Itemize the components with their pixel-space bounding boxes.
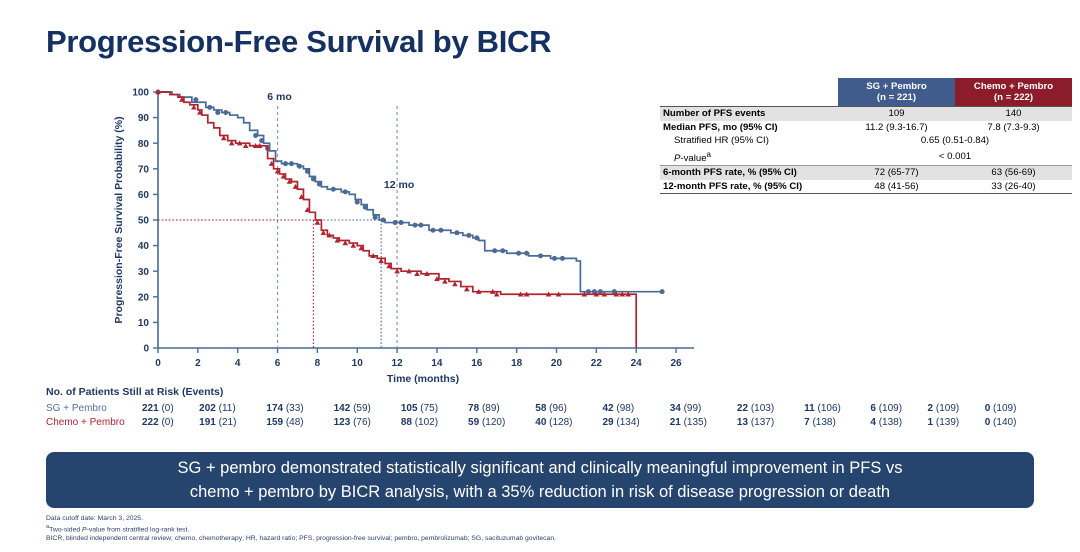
censor-mark (259, 138, 264, 143)
y-tick-label: 100 (132, 88, 149, 99)
x-tick-label: 18 (511, 358, 523, 369)
risk-cell: 59 (120) (468, 415, 535, 429)
stats-header-blank (660, 78, 838, 107)
censor-mark (399, 220, 404, 225)
stats-row-label: Median PFS, mo (95% CI) (660, 121, 838, 135)
risk-cell: 105 (75) (401, 401, 468, 415)
risk-table-wrapper: No. of Patients Still at Risk (Events) S… (46, 386, 1046, 429)
y-tick-label: 50 (138, 216, 150, 227)
censor-mark (283, 161, 288, 166)
censor-mark (355, 200, 360, 205)
conclusion-banner: SG + pembro demonstrated statistically s… (46, 452, 1034, 508)
x-tick-label: 14 (431, 358, 443, 369)
risk-cell: 221 (0) (142, 401, 199, 415)
censor-mark (393, 220, 398, 225)
risk-cell: 0 (109) (985, 401, 1042, 415)
stats-row-value-span: 0.65 (0.51-0.84) (838, 134, 1072, 148)
risk-cell: 29 (134) (602, 415, 669, 429)
stats-header-row: SG + Pembro(n = 221)Chemo + Pembro(n = 2… (660, 78, 1072, 107)
risk-row-label: Chemo + Pembro (46, 415, 142, 429)
x-axis-title: Time (months) (387, 373, 459, 385)
stats-row-label: P-valuea (660, 148, 838, 166)
footnotes: Data cutoff date: March 3, 2025. aTwo-si… (46, 514, 1046, 543)
y-tick-label: 30 (138, 267, 150, 278)
censor-mark (430, 228, 435, 233)
risk-cell: 191 (21) (199, 415, 266, 429)
censor-mark (552, 256, 557, 261)
censor-mark (305, 169, 310, 174)
censor-mark (413, 223, 418, 228)
x-tick-label: 24 (631, 358, 643, 369)
risk-cell: 123 (76) (334, 415, 401, 429)
censor-mark (474, 235, 479, 240)
y-tick-label: 80 (138, 139, 150, 150)
x-tick-label: 6 (275, 358, 281, 369)
footnote-0: Data cutoff date: March 3, 2025. (46, 514, 1046, 523)
stats-row: Stratified HR (95% CI)0.65 (0.51-0.84) (660, 134, 1072, 148)
x-tick-label: 16 (471, 358, 483, 369)
risk-cell: 42 (98) (602, 401, 669, 415)
risk-table: SG + Pembro221 (0)202 (11)174 (33)142 (5… (46, 401, 1042, 429)
page-title: Progression-Free Survival by BICR (46, 24, 551, 60)
footnote-1: aTwo-sided P-value from stratified log-r… (46, 523, 1046, 534)
x-tick-label: 0 (155, 358, 161, 369)
censor-mark (207, 105, 212, 110)
y-tick-label: 90 (138, 113, 150, 124)
annotation-label: 6 mo (267, 91, 292, 103)
risk-cell: 174 (33) (266, 401, 333, 415)
stats-row: Median PFS, mo (95% CI)11.2 (9.3-16.7)7.… (660, 121, 1072, 135)
x-tick-label: 22 (591, 358, 603, 369)
censor-mark (492, 248, 497, 253)
censor-mark (516, 251, 521, 256)
censor-mark (297, 164, 302, 169)
risk-cell: 40 (128) (535, 415, 602, 429)
censor-mark (223, 110, 228, 115)
stats-row-value-chemo: 33 (26-40) (955, 180, 1072, 194)
stats-row-value-span: < 0.001 (838, 148, 1072, 166)
y-axis-title: Progression-Free Survival Probability (%… (113, 116, 125, 323)
annotation-label: 12 mo (384, 179, 414, 191)
censor-mark (660, 289, 665, 294)
censor-mark (343, 189, 348, 194)
x-tick-label: 10 (352, 358, 364, 369)
censor-mark (500, 248, 505, 253)
x-tick-label: 8 (315, 358, 321, 369)
stats-row-value-chemo: 63 (56-69) (955, 166, 1072, 180)
censor-mark (311, 177, 316, 182)
censor-mark (331, 187, 336, 192)
y-tick-label: 70 (138, 164, 150, 175)
stats-header-chemo: Chemo + Pembro(n = 222) (955, 78, 1072, 107)
risk-cell: 159 (48) (266, 415, 333, 429)
censor-mark (538, 253, 543, 258)
x-tick-label: 2 (195, 358, 201, 369)
risk-cell: 58 (96) (535, 401, 602, 415)
censor-mark (381, 218, 386, 223)
risk-cell: 2 (109) (928, 401, 985, 415)
stats-row-label: Number of PFS events (660, 107, 838, 121)
risk-cell: 0 (140) (985, 415, 1042, 429)
stats-table: SG + Pembro(n = 221)Chemo + Pembro(n = 2… (660, 78, 1072, 194)
censor-mark (524, 251, 529, 256)
risk-cell: 6 (109) (870, 401, 927, 415)
y-tick-label: 60 (138, 190, 150, 201)
risk-cell: 78 (89) (468, 401, 535, 415)
slide-root: Progression-Free Survival by BICR 010203… (0, 0, 1080, 552)
stats-row: 6-month PFS rate, % (95% CI)72 (65-77)63… (660, 166, 1072, 180)
y-tick-label: 40 (138, 241, 150, 252)
censor-mark (438, 228, 443, 233)
censor-mark (253, 133, 258, 138)
x-tick-label: 4 (235, 358, 241, 369)
x-tick-label: 12 (392, 358, 404, 369)
risk-cell: 4 (138) (870, 415, 927, 429)
censor-mark (193, 97, 198, 102)
censor-mark (317, 182, 322, 187)
stats-row-value-chemo: 140 (955, 107, 1072, 121)
footnote-2: BICR, blinded independent central review… (46, 534, 1046, 543)
stats-row-label: Stratified HR (95% CI) (660, 134, 838, 148)
censor-mark (373, 215, 378, 220)
banner-line-2: chemo + pembro by BICR analysis, with a … (190, 483, 890, 501)
risk-table-row: Chemo + Pembro222 (0)191 (21)159 (48)123… (46, 415, 1042, 429)
censor-mark (215, 110, 220, 115)
censor-mark (363, 205, 368, 210)
risk-row-label: SG + Pembro (46, 401, 142, 415)
risk-cell: 222 (0) (142, 415, 199, 429)
risk-table-title: No. of Patients Still at Risk (Events) (46, 386, 1046, 398)
y-tick-label: 10 (138, 318, 150, 329)
stats-header-sg: SG + Pembro(n = 221) (838, 78, 955, 107)
stats-row: P-valuea< 0.001 (660, 148, 1072, 166)
risk-cell: 7 (138) (804, 415, 870, 429)
risk-cell: 202 (11) (199, 401, 266, 415)
stats-row-value-sg: 11.2 (9.3-16.7) (838, 121, 955, 135)
stats-row-label: 6-month PFS rate, % (95% CI) (660, 166, 838, 180)
risk-cell: 34 (99) (670, 401, 737, 415)
stats-row-value-sg: 48 (41-56) (838, 180, 955, 194)
risk-cell: 1 (139) (928, 415, 985, 429)
risk-cell: 88 (102) (401, 415, 468, 429)
censor-mark (454, 230, 459, 235)
y-tick-label: 0 (143, 344, 149, 355)
risk-cell: 142 (59) (334, 401, 401, 415)
km-svg: 0102030405060708090100024681012141618202… (0, 78, 700, 390)
x-tick-label: 26 (670, 358, 682, 369)
x-tick-label: 20 (551, 358, 563, 369)
stats-row: 12-month PFS rate, % (95% CI)48 (41-56)3… (660, 180, 1072, 194)
risk-cell: 11 (106) (804, 401, 870, 415)
stats-row-label: 12-month PFS rate, % (95% CI) (660, 180, 838, 194)
y-tick-label: 20 (138, 292, 150, 303)
risk-table-row: SG + Pembro221 (0)202 (11)174 (33)142 (5… (46, 401, 1042, 415)
risk-cell: 13 (137) (737, 415, 804, 429)
km-curve-sg (158, 92, 664, 292)
stats-row-value-chemo: 7.8 (7.3-9.3) (955, 121, 1072, 135)
risk-cell: 21 (135) (670, 415, 737, 429)
censor-mark (466, 233, 471, 238)
censor-mark (289, 161, 294, 166)
km-chart: 0102030405060708090100024681012141618202… (0, 78, 700, 388)
stats-row-value-sg: 72 (65-77) (838, 166, 955, 180)
censor-mark (560, 256, 565, 261)
risk-cell: 22 (103) (737, 401, 804, 415)
censor-mark (419, 223, 424, 228)
stats-row-value-sg: 109 (838, 107, 955, 121)
banner-line-1: SG + pembro demonstrated statistically s… (178, 459, 903, 477)
stats-row: Number of PFS events109140 (660, 107, 1072, 121)
